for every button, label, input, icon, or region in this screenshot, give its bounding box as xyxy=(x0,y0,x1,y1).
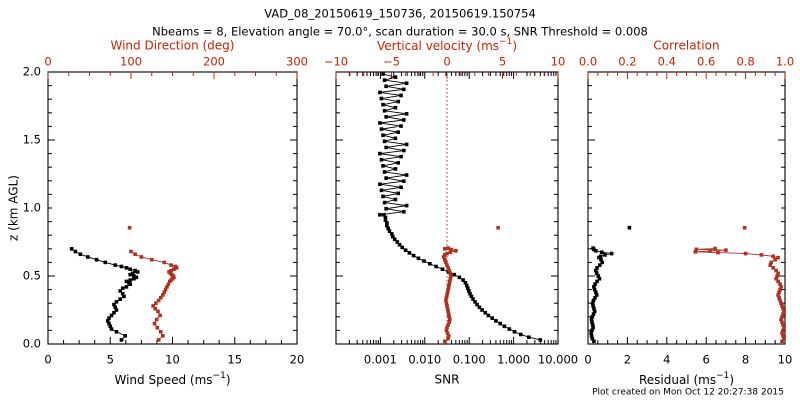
data-point-marker xyxy=(394,167,398,171)
x-top-axis-label: Correlation xyxy=(653,39,719,53)
data-point-marker xyxy=(125,266,129,270)
data-point-marker xyxy=(769,261,773,265)
plot-title: VAD_08_20150619_150736, 20150619.150754 xyxy=(264,7,536,21)
y-axis-tick-label: 1.5 xyxy=(23,133,41,147)
data-point-marker xyxy=(487,314,491,318)
x-axis-tick-label: 10.000 xyxy=(538,353,578,367)
data-point-marker xyxy=(724,248,728,252)
data-point-marker xyxy=(402,118,406,122)
x-top-axis-tick-label: −10 xyxy=(324,55,348,69)
data-point-marker xyxy=(161,334,165,338)
x-axis-tick-label: 0.010 xyxy=(408,353,441,367)
data-point-marker xyxy=(394,198,398,202)
data-point-marker xyxy=(123,334,127,338)
data-point-marker xyxy=(713,247,717,251)
data-point-marker xyxy=(445,252,449,256)
data-point-marker xyxy=(458,276,462,280)
plot-canvas: VAD_08_20150619_150736, 20150619.150754N… xyxy=(0,0,800,400)
data-point-marker xyxy=(446,246,450,250)
data-point-marker xyxy=(396,161,400,165)
x-top-axis-tick-label: 10 xyxy=(551,55,566,69)
data-point-marker xyxy=(155,326,159,330)
data-point-marker xyxy=(383,170,387,174)
data-point-marker xyxy=(383,140,387,144)
data-point-marker xyxy=(378,121,382,125)
data-point-marker xyxy=(384,176,388,180)
data-point-marker xyxy=(591,246,595,250)
data-point-marker xyxy=(125,285,129,289)
data-point-marker xyxy=(381,164,385,168)
data-point-marker xyxy=(441,267,445,271)
x-top-axis-tick-label: 0 xyxy=(443,55,450,69)
data-point-marker xyxy=(412,254,416,258)
data-point-marker xyxy=(115,330,119,334)
svg-text:Residual (ms−1): Residual (ms−1) xyxy=(639,371,734,387)
data-point-marker xyxy=(383,109,387,113)
x-top-axis-tick-label: 0 xyxy=(44,55,51,69)
data-point-marker xyxy=(384,84,388,88)
x-top-axis-tick-label: 0.2 xyxy=(618,55,636,69)
data-point-marker xyxy=(378,91,382,95)
data-point-marker xyxy=(503,325,507,329)
data-point-marker xyxy=(129,250,133,254)
data-point-marker xyxy=(405,112,409,116)
data-point-marker xyxy=(443,247,447,251)
data-point-marker xyxy=(384,115,388,119)
x-axis-tick-label: 10 xyxy=(165,353,180,367)
data-point-marker xyxy=(383,78,387,82)
data-point-marker xyxy=(169,263,173,267)
data-point-marker xyxy=(600,250,604,254)
x-top-axis-tick-label: 5 xyxy=(499,55,506,69)
data-point-marker xyxy=(125,280,129,284)
data-point-marker xyxy=(490,316,494,320)
data-point-marker xyxy=(121,286,125,290)
data-point-marker xyxy=(708,249,712,253)
x-axis-tick-label: 0.100 xyxy=(453,353,486,367)
x-axis-label: SNR xyxy=(435,373,460,387)
x-top-axis-tick-label: 0.6 xyxy=(697,55,715,69)
data-point-marker xyxy=(405,143,409,147)
data-point-marker xyxy=(74,250,78,254)
data-point-marker xyxy=(79,252,83,256)
x-axis-tick-label: 15 xyxy=(227,353,242,367)
data-point-marker xyxy=(760,253,764,257)
data-point-marker xyxy=(396,100,400,104)
data-point-marker xyxy=(404,248,408,252)
data-point-marker xyxy=(70,247,74,251)
x-axis-tick-label: 0 xyxy=(44,353,51,367)
data-point-marker xyxy=(405,81,409,85)
data-point-marker xyxy=(422,259,426,263)
y-axis-tick-label: 0.5 xyxy=(23,269,41,283)
data-point-marker xyxy=(405,204,409,208)
data-point-marker xyxy=(527,335,531,339)
data-point-marker xyxy=(120,265,124,269)
data-point-marker xyxy=(771,254,775,258)
x-top-axis-tick-label: 0.4 xyxy=(658,55,676,69)
x-axis-tick-label: 8 xyxy=(742,353,749,367)
data-point-marker xyxy=(394,75,398,79)
data-point-marker xyxy=(428,262,432,266)
x-top-axis-tick-label: 0.8 xyxy=(736,55,754,69)
y-axis-tick-label: 2.0 xyxy=(23,65,41,79)
data-point-marker xyxy=(394,137,398,141)
data-point-marker xyxy=(133,269,137,273)
data-point-marker xyxy=(494,319,498,323)
x-axis-tick-label: 6 xyxy=(703,353,710,367)
data-point-marker xyxy=(396,130,400,134)
x-top-axis-tick-label: −5 xyxy=(383,55,400,69)
data-point-marker xyxy=(115,300,119,304)
x-axis-tick-label: 4 xyxy=(663,353,670,367)
x-axis-tick-label: 2 xyxy=(624,353,631,367)
data-point-marker xyxy=(380,127,384,131)
data-point-marker xyxy=(173,265,177,269)
x-axis-tick-label: 10 xyxy=(778,353,793,367)
data-point-marker xyxy=(402,88,406,92)
y-axis-label: z (km AGL) xyxy=(7,175,21,241)
data-point-marker xyxy=(450,248,454,252)
data-point-marker xyxy=(454,249,458,253)
data-point-marker xyxy=(628,226,632,230)
data-point-marker xyxy=(610,252,614,256)
data-point-marker xyxy=(95,258,99,262)
data-point-marker xyxy=(603,253,607,257)
data-point-marker xyxy=(513,330,517,334)
data-point-marker xyxy=(153,322,157,326)
data-point-marker xyxy=(86,255,90,259)
data-point-marker xyxy=(120,338,124,342)
data-point-marker xyxy=(743,226,747,230)
panel-1-frame xyxy=(48,72,297,344)
data-point-marker xyxy=(402,210,406,214)
plot-created-timestamp: Plot created on Mon Oct 12 20:27:38 2015 xyxy=(592,388,784,398)
data-point-marker xyxy=(378,213,382,217)
data-point-marker xyxy=(483,311,487,315)
data-point-marker xyxy=(408,251,412,255)
data-point-marker xyxy=(128,226,132,230)
data-point-marker xyxy=(384,146,388,150)
data-point-marker xyxy=(162,261,166,265)
data-point-marker xyxy=(399,94,403,98)
data-point-marker xyxy=(378,182,382,186)
data-point-marker xyxy=(599,254,603,258)
data-point-marker xyxy=(158,314,162,318)
data-point-marker xyxy=(159,330,163,334)
data-point-marker xyxy=(461,278,465,282)
data-point-marker xyxy=(380,97,384,101)
data-point-marker xyxy=(443,339,447,343)
x-top-axis-tick-label: 0.0 xyxy=(579,55,597,69)
data-point-marker xyxy=(394,106,398,110)
data-point-marker xyxy=(118,297,122,301)
x-top-axis-tick-label: 200 xyxy=(203,55,225,69)
data-point-marker xyxy=(103,261,107,265)
data-point-marker xyxy=(382,213,386,217)
data-point-marker xyxy=(434,265,438,269)
data-point-marker xyxy=(381,72,385,76)
data-point-marker xyxy=(695,248,699,252)
x-top-axis-tick-label: 300 xyxy=(286,55,308,69)
x-top-axis-tick-label: 100 xyxy=(120,55,142,69)
x-top-axis-label: Wind Direction (deg) xyxy=(111,39,235,53)
data-point-marker xyxy=(396,192,400,196)
data-point-marker xyxy=(380,189,384,193)
x-axis-tick-label: 0.001 xyxy=(364,353,397,367)
data-point-marker xyxy=(380,158,384,162)
data-point-marker xyxy=(140,255,144,259)
data-point-marker xyxy=(498,322,502,326)
data-point-marker xyxy=(381,195,385,199)
y-axis-tick-label: 0.0 xyxy=(23,337,41,351)
data-point-marker xyxy=(399,155,403,159)
y-axis-tick-label: 1.0 xyxy=(23,201,41,215)
data-point-marker xyxy=(519,333,523,337)
x-axis-tick-label: 5 xyxy=(107,353,114,367)
data-point-marker xyxy=(744,252,748,256)
x-top-axis-tick-label: 1.0 xyxy=(776,55,794,69)
svg-text:Vertical velocity (ms−1): Vertical velocity (ms−1) xyxy=(377,37,517,53)
data-point-marker xyxy=(150,258,154,262)
x-axis-tick-label: 1.000 xyxy=(497,353,530,367)
data-point-marker xyxy=(776,256,780,260)
data-point-marker xyxy=(383,201,387,205)
data-point-marker xyxy=(128,278,132,282)
x-axis-tick-label: 0 xyxy=(584,353,591,367)
data-point-marker xyxy=(405,173,409,177)
data-point-marker xyxy=(716,251,720,255)
data-point-marker xyxy=(133,252,137,256)
vad-plot-figure: VAD_08_20150619_150736, 20150619.150754N… xyxy=(0,0,800,400)
data-point-marker xyxy=(452,273,456,277)
data-point-marker xyxy=(381,133,385,137)
svg-text:Wind Speed (ms−1): Wind Speed (ms−1) xyxy=(115,371,231,387)
data-point-marker xyxy=(155,318,159,322)
data-point-marker xyxy=(539,338,543,342)
data-point-marker xyxy=(384,207,388,211)
data-point-marker xyxy=(381,103,385,107)
data-point-marker xyxy=(417,257,421,261)
data-point-marker xyxy=(402,149,406,153)
data-point-marker xyxy=(496,226,500,230)
data-point-marker xyxy=(507,327,511,331)
series-line-snr xyxy=(380,74,540,340)
data-point-marker xyxy=(399,185,403,189)
data-point-marker xyxy=(128,267,132,271)
data-point-marker xyxy=(399,124,403,128)
data-point-marker xyxy=(157,338,161,342)
data-point-marker xyxy=(378,152,382,156)
data-point-marker xyxy=(402,179,406,183)
x-axis-tick-label: 20 xyxy=(290,353,305,367)
data-point-marker xyxy=(113,263,117,267)
panel-3-frame xyxy=(588,72,785,344)
plot-subtitle: Nbeams = 8, Elevation angle = 70.0°, sca… xyxy=(152,25,648,39)
